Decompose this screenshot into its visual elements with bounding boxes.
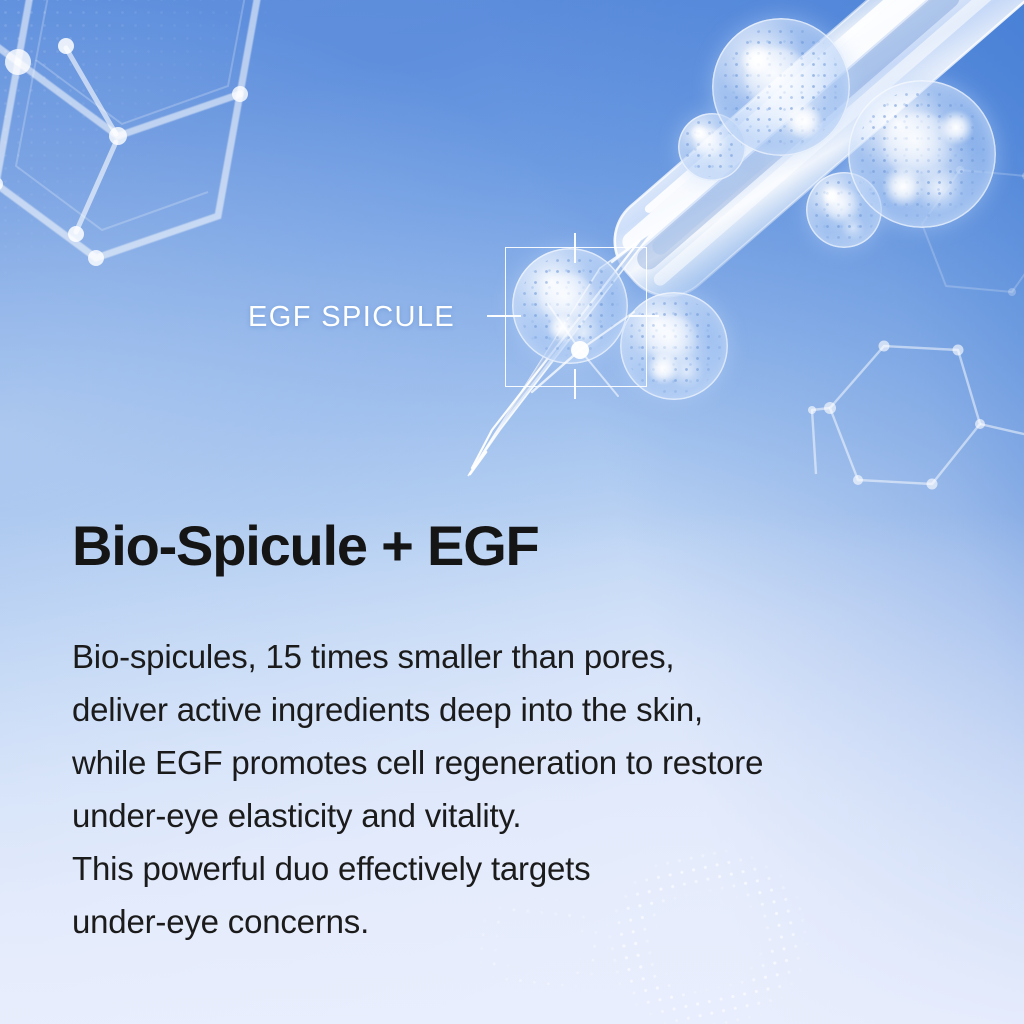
body-line: while EGF promotes cell regeneration to … [72, 736, 763, 789]
body-line: Bio-spicules, 15 times smaller than pore… [72, 630, 763, 683]
halftone-dot-swirl-top [0, 0, 320, 280]
page-title: Bio-Spicule + EGF [72, 513, 539, 578]
body-line: under-eye elasticity and vitality. [72, 789, 763, 842]
callout-label: EGF SPICULE [248, 301, 455, 334]
marketing-image: EGF SPICULE Bio-Spicule + EGF Bio-spicul… [0, 0, 1024, 1024]
body-line: This powerful duo effectively targets [72, 842, 763, 895]
targeting-frame-tick-top [574, 233, 576, 263]
targeting-frame [505, 247, 647, 387]
body-line: under-eye concerns. [72, 895, 763, 948]
targeting-frame-tick-bottom [574, 369, 576, 399]
callout-connector-line [487, 315, 507, 317]
spicule-bubble-large-left [712, 18, 850, 156]
body-description: Bio-spicules, 15 times smaller than pore… [72, 630, 763, 948]
body-line: deliver active ingredients deep into the… [72, 683, 763, 736]
targeting-frame-tick-right [629, 315, 659, 317]
spicule-bubble-large-right [848, 80, 996, 228]
